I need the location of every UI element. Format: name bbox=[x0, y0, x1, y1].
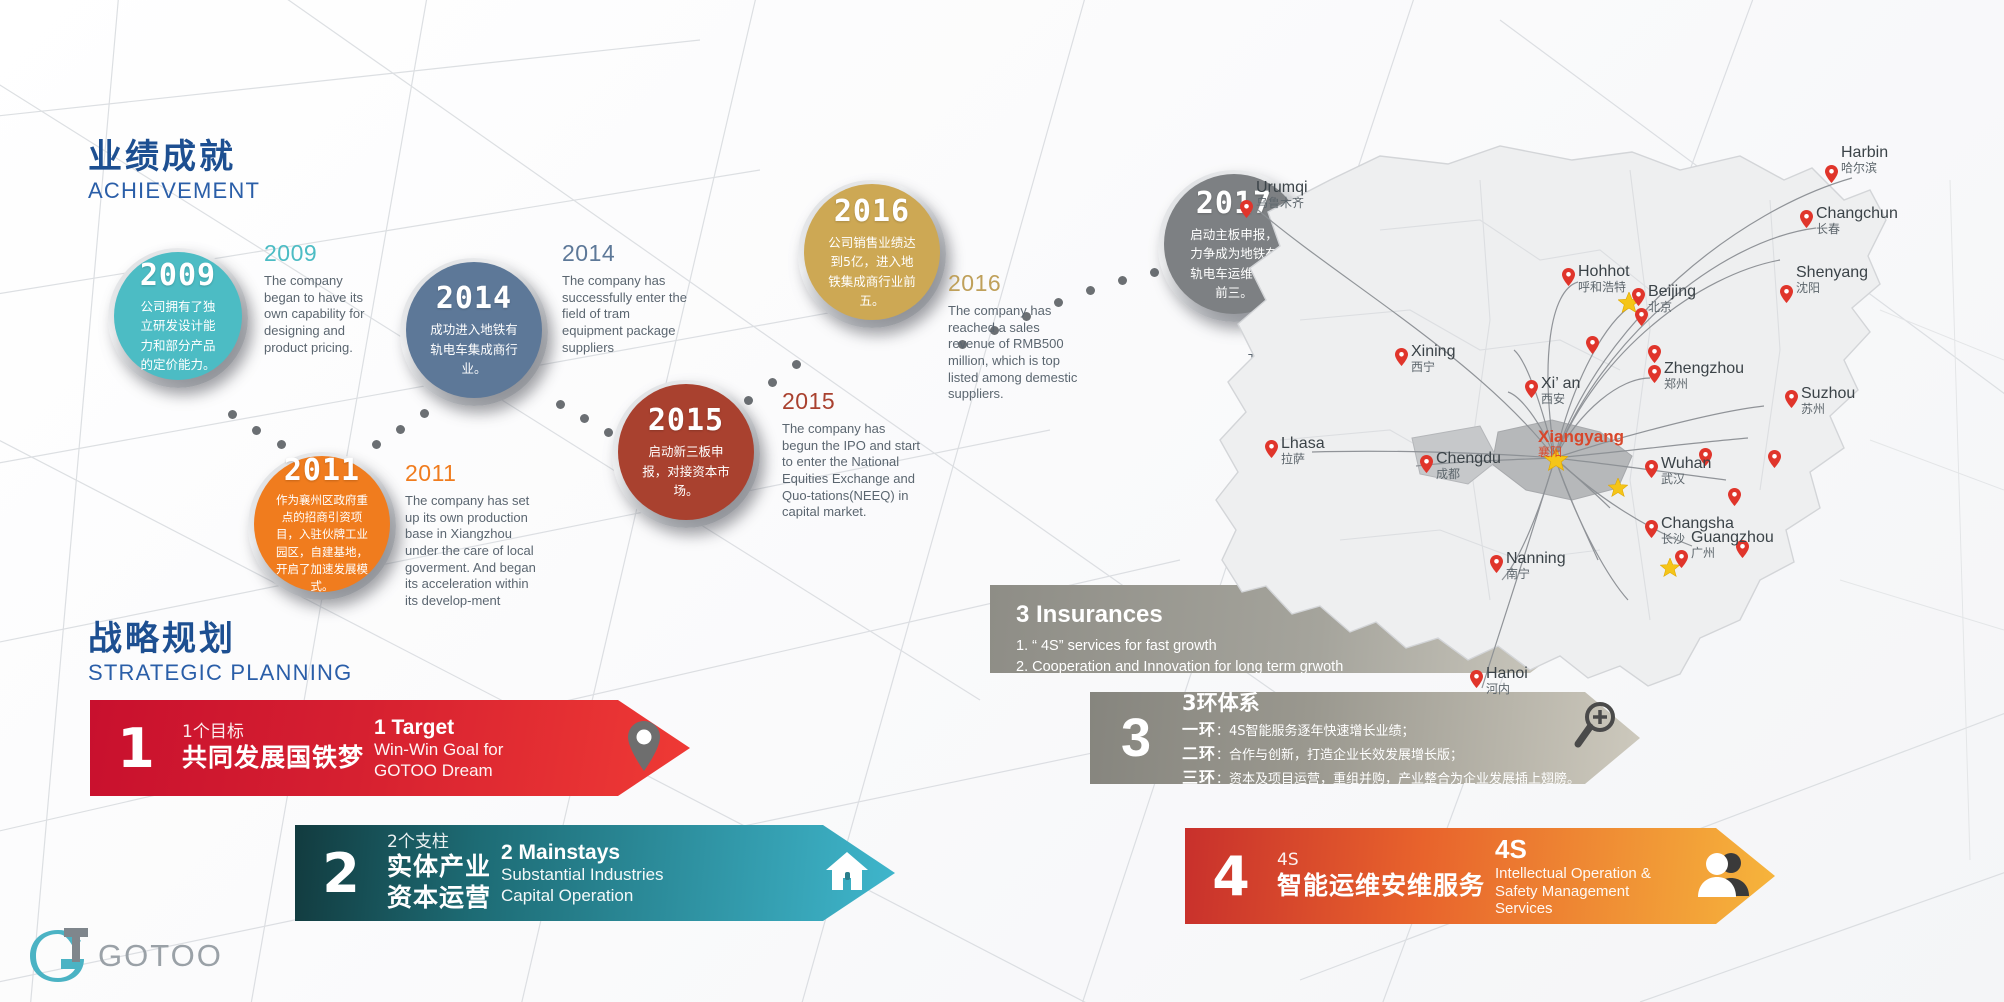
map-pin-shenyang bbox=[1780, 285, 1793, 303]
city-en-shenyang: Shenyang bbox=[1796, 265, 1868, 282]
gt-logo-icon bbox=[28, 928, 90, 984]
city-en-urumqi: Urumqi bbox=[1256, 180, 1308, 197]
city-en-xiangyang: Xiangyang bbox=[1538, 428, 1624, 446]
city-en-suzhou: Suzhou bbox=[1801, 386, 1855, 403]
city-cn-suzhou: 苏州 bbox=[1801, 403, 1855, 416]
timeline-circle-desc-2015: 启动新三板申报，对接资本市场。 bbox=[625, 442, 747, 500]
timeline-circle-2014[interactable]: 2014 成功进入地铁有轨电车集成商行业。 bbox=[406, 262, 542, 398]
city-en-hanoi: Hanoi bbox=[1486, 666, 1528, 683]
map-pin-chengdu bbox=[1420, 455, 1433, 473]
timeline-circle-desc-2009: 公司拥有了独立研发设计能力和部分产品的定价能力。 bbox=[121, 297, 235, 375]
city-cn-chengdu: 成都 bbox=[1436, 468, 1501, 481]
city-en-xian: Xi’ an bbox=[1541, 376, 1580, 393]
city-label-harbin: Harbin哈尔滨 bbox=[1841, 145, 1888, 175]
city-cn-xian: 西安 bbox=[1541, 393, 1580, 406]
map-pin-changchun bbox=[1800, 210, 1813, 228]
banner-2-cn-block: 2个支柱 实体产业 资本运营 bbox=[387, 833, 501, 914]
timeline-label-desc-2015: The company has begun the IPO and start … bbox=[782, 421, 924, 521]
gotoo-logo: GOTOO bbox=[28, 928, 223, 984]
city-cn-beijing: 北京 bbox=[1648, 301, 1696, 314]
city-en-nanning: Nanning bbox=[1506, 551, 1566, 568]
achievement-title-en: ACHIEVEMENT bbox=[88, 178, 260, 204]
map-pin-hanoi bbox=[1470, 670, 1483, 688]
city-en-beijing: Beijing bbox=[1648, 284, 1696, 301]
timeline-circle-2015[interactable]: 2015 启动新三板申报，对接资本市场。 bbox=[618, 384, 754, 520]
timeline-circle-desc-2016: 公司销售业绩达到5亿，进入地铁集成商行业前五。 bbox=[811, 233, 933, 311]
city-label-chengdu: Chengdu成都 bbox=[1436, 451, 1501, 481]
city-label-lhasa: Lhasa拉萨 bbox=[1281, 436, 1325, 466]
city-label-hohhot: Hohhot呼和浩特 bbox=[1578, 264, 1630, 294]
achievement-title-cn: 业绩成就 bbox=[88, 140, 260, 176]
ring-system-number: 3 bbox=[1090, 707, 1182, 769]
city-en-hohhot: Hohhot bbox=[1578, 264, 1630, 281]
banner-1-en-block: 1 Target Win-Win Goal for GOTOO Dream bbox=[374, 715, 616, 782]
city-label-zhengzhou: Zhengzhou郑州 bbox=[1664, 361, 1744, 391]
city-en-xining: Xining bbox=[1411, 344, 1455, 361]
strategy-banner-1[interactable]: 1 1个目标 共同发展国铁梦 1 Target Win-Win Goal for… bbox=[90, 700, 690, 796]
china-map: Xiangyang 襄阳 Urumqi乌鲁木齐Harbin哈尔滨Changchu… bbox=[1180, 60, 2004, 880]
gotoo-wordmark: GOTOO bbox=[98, 938, 223, 974]
planning-heading: 战略规划 STRATEGIC PLANNING bbox=[88, 622, 352, 686]
timeline-label-2014: 2014 The company has successfully enter … bbox=[562, 240, 694, 356]
map-pin bbox=[1635, 308, 1648, 326]
timeline-label-2015: 2015 The company has begun the IPO and s… bbox=[782, 388, 924, 521]
city-en-lhasa: Lhasa bbox=[1281, 436, 1325, 453]
timeline-circle-2009[interactable]: 2009 公司拥有了独立研发设计能力和部分产品的定价能力。 bbox=[114, 252, 242, 380]
strategy-banner-2[interactable]: 2 2个支柱 实体产业 资本运营 2 Mainstays Substantial… bbox=[295, 825, 895, 921]
city-label-changchun: Changchun长春 bbox=[1816, 206, 1898, 236]
map-pin-guangzhou bbox=[1675, 550, 1688, 568]
city-cn-urumqi: 乌鲁木齐 bbox=[1256, 197, 1308, 210]
banner-1-en-title: 1 Target bbox=[374, 715, 616, 740]
timeline-circle-desc-2011: 作为襄州区政府重点的招商引资项目，入驻伙牌工业园区，自建基地，开启了加速发展模式… bbox=[261, 492, 383, 596]
timeline-circle-year-2009: 2009 bbox=[140, 258, 216, 293]
map-pin-urumqi bbox=[1240, 200, 1253, 218]
planning-title-en: STRATEGIC PLANNING bbox=[88, 660, 352, 686]
map-pin-hohhot bbox=[1562, 268, 1575, 286]
banner-2-en-title: 2 Mainstays bbox=[501, 840, 817, 865]
timeline-circle-2011[interactable]: 2011 作为襄州区政府重点的招商引资项目，入驻伙牌工业园区，自建基地，开启了加… bbox=[254, 456, 390, 592]
city-label-xiangyang: Xiangyang 襄阳 bbox=[1538, 428, 1624, 459]
timeline-label-year-2011: 2011 bbox=[405, 460, 537, 487]
city-label-shenyang: Shenyang沈阳 bbox=[1796, 265, 1868, 295]
city-label-urumqi: Urumqi乌鲁木齐 bbox=[1256, 180, 1308, 210]
banner-1-cn-big: 共同发展国铁梦 bbox=[182, 743, 364, 774]
map-pin bbox=[1586, 336, 1599, 354]
timeline-label-year-2009: 2009 bbox=[264, 240, 376, 267]
planning-title-cn: 战略规划 bbox=[88, 622, 352, 658]
timeline-label-2016: 2016 The company has reached a sales rev… bbox=[948, 270, 1078, 403]
city-cn-hanoi: 河内 bbox=[1486, 683, 1528, 696]
city-cn-xiangyang: 襄阳 bbox=[1538, 446, 1624, 459]
timeline-circle-year-2016: 2016 bbox=[834, 194, 910, 229]
city-cn-hohhot: 呼和浩特 bbox=[1578, 281, 1630, 294]
map-pin-beijing bbox=[1632, 288, 1645, 306]
map-pin-wuhan bbox=[1645, 460, 1658, 478]
timeline-circle-year-2014: 2014 bbox=[436, 281, 512, 316]
banner-2-number: 2 bbox=[295, 842, 387, 905]
city-en-zhengzhou: Zhengzhou bbox=[1664, 361, 1744, 378]
city-label-guangzhou: Guangzhou广州 bbox=[1691, 530, 1774, 560]
city-cn-wuhan: 武汉 bbox=[1661, 473, 1711, 486]
banner-1-number: 1 bbox=[90, 717, 182, 780]
timeline-label-desc-2009: The company began to have its own capabi… bbox=[264, 273, 376, 356]
timeline-circle-2016[interactable]: 2016 公司销售业绩达到5亿，进入地铁集成商行业前五。 bbox=[804, 184, 940, 320]
map-pin-suzhou bbox=[1785, 390, 1798, 408]
achievement-heading: 业绩成就 ACHIEVEMENT bbox=[88, 140, 260, 204]
star-marker-wuhan bbox=[1608, 478, 1630, 499]
city-label-hanoi: Hanoi河内 bbox=[1486, 666, 1528, 696]
banner-1-en-sub: Win-Win Goal for GOTOO Dream bbox=[374, 740, 616, 781]
city-label-xining: Xining西宁 bbox=[1411, 344, 1455, 374]
map-landmass bbox=[1216, 146, 1886, 686]
city-label-beijing: Beijing北京 bbox=[1648, 284, 1696, 314]
city-en-changchun: Changchun bbox=[1816, 206, 1898, 223]
banner-1-cn-block: 1个目标 共同发展国铁梦 bbox=[182, 723, 374, 773]
city-en-chengdu: Chengdu bbox=[1436, 451, 1501, 468]
city-en-wuhan: Wuhan bbox=[1661, 456, 1711, 473]
timeline-label-2009: 2009 The company began to have its own c… bbox=[264, 240, 376, 356]
city-cn-shenyang: 沈阳 bbox=[1796, 282, 1868, 295]
banner-2-cn-small: 2个支柱 bbox=[387, 833, 491, 853]
map-pin-changsha bbox=[1645, 520, 1658, 538]
city-en-guangzhou: Guangzhou bbox=[1691, 530, 1774, 547]
city-cn-harbin: 哈尔滨 bbox=[1841, 162, 1888, 175]
map-pin-lhasa bbox=[1265, 440, 1278, 458]
timeline-label-2011: 2011 The company has set up its own prod… bbox=[405, 460, 537, 609]
city-label-suzhou: Suzhou苏州 bbox=[1801, 386, 1855, 416]
timeline-circle-year-2011: 2011 bbox=[284, 453, 360, 488]
city-label-wuhan: Wuhan武汉 bbox=[1661, 456, 1711, 486]
banner-1-cn-small: 1个目标 bbox=[182, 723, 364, 743]
infographic-canvas: 业绩成就 ACHIEVEMENT 2009 公司拥有了独立研发设计能力和部分产品… bbox=[0, 0, 2004, 1002]
city-en-harbin: Harbin bbox=[1841, 145, 1888, 162]
banner-2-en-block: 2 Mainstays Substantial Industries Capit… bbox=[501, 840, 817, 907]
timeline-label-desc-2011: The company has set up its own productio… bbox=[405, 493, 537, 609]
banner-2-en-sub: Substantial Industries Capital Operation bbox=[501, 865, 817, 906]
map-pin-nanning bbox=[1490, 555, 1503, 573]
map-pin bbox=[1768, 450, 1781, 468]
map-pin-harbin bbox=[1825, 165, 1838, 183]
city-cn-lhasa: 拉萨 bbox=[1281, 453, 1325, 466]
timeline-circle-desc-2014: 成功进入地铁有轨电车集成商行业。 bbox=[413, 320, 535, 378]
city-label-xian: Xi’ an西安 bbox=[1541, 376, 1580, 406]
timeline-label-desc-2016: The company has reached a sales revenue … bbox=[948, 303, 1078, 403]
timeline-label-year-2015: 2015 bbox=[782, 388, 924, 415]
map-pin bbox=[1728, 488, 1741, 506]
city-cn-xining: 西宁 bbox=[1411, 361, 1455, 374]
map-pin-xian bbox=[1525, 380, 1538, 398]
city-cn-guangzhou: 广州 bbox=[1691, 547, 1774, 560]
city-label-nanning: Nanning南宁 bbox=[1506, 551, 1566, 581]
map-pin-zhengzhou bbox=[1648, 365, 1661, 383]
city-cn-nanning: 南宁 bbox=[1506, 568, 1566, 581]
map-pin bbox=[1648, 345, 1661, 363]
map-pin-xining bbox=[1395, 348, 1408, 366]
city-cn-changchun: 长春 bbox=[1816, 223, 1898, 236]
city-cn-zhengzhou: 郑州 bbox=[1664, 378, 1744, 391]
banner-2-cn-big: 实体产业 资本运营 bbox=[387, 852, 491, 913]
timeline-label-desc-2014: The company has successfully enter the f… bbox=[562, 273, 694, 356]
timeline-label-year-2016: 2016 bbox=[948, 270, 1078, 297]
timeline-circle-year-2015: 2015 bbox=[648, 403, 724, 438]
timeline-label-year-2014: 2014 bbox=[562, 240, 694, 267]
